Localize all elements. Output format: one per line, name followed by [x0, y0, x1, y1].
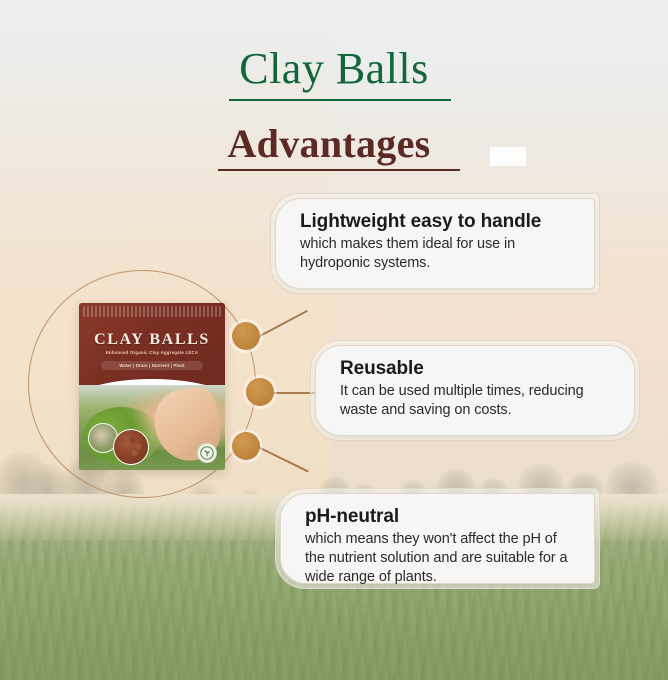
- advantage-card-reusable[interactable]: Reusable It can be used multiple times, …: [310, 340, 640, 441]
- bullet-dot-1[interactable]: [232, 322, 260, 350]
- plant-eco-icon: [197, 443, 217, 463]
- card-content: pH-neutral which means they won't affect…: [280, 493, 595, 584]
- clay-pebbles-inset: [113, 429, 149, 465]
- card-title: Lightweight easy to handle: [300, 211, 579, 233]
- card-body: which makes them ideal for use in hydrop…: [300, 235, 579, 274]
- page-subtitle: Advantages: [0, 123, 668, 165]
- white-block-accent: [490, 147, 526, 166]
- card-body: It can be used multiple times, reducing …: [340, 382, 619, 421]
- title-underline: [229, 99, 451, 101]
- card-title: pH-neutral: [305, 506, 579, 528]
- card-body: which means they won't affect the pH of …: [305, 530, 579, 588]
- bullet-dot-3[interactable]: [232, 432, 260, 460]
- advantage-card-ph-neutral[interactable]: pH-neutral which means they won't affect…: [275, 488, 600, 589]
- page-title: Clay Balls: [0, 46, 668, 92]
- card-content: Lightweight easy to handle which makes t…: [275, 198, 595, 289]
- advantage-card-lightweight[interactable]: Lightweight easy to handle which makes t…: [270, 193, 600, 294]
- card-content: Reusable It can be used multiple times, …: [315, 345, 635, 436]
- package-zipper: [83, 306, 221, 317]
- subtitle-underline: [218, 169, 460, 171]
- package-photo: [79, 385, 225, 470]
- card-title: Reusable: [340, 358, 619, 380]
- package-tagline-primary: Enhanced Organic Clay Aggregate LECA: [79, 350, 225, 355]
- package-brand-name: CLAY BALLS: [79, 331, 225, 349]
- package-tagline-secondary: Water | Drain | Nutrient | Plant: [101, 361, 203, 370]
- product-package-image: CLAY BALLS Enhanced Organic Clay Aggrega…: [79, 303, 225, 470]
- bullet-dot-2[interactable]: [246, 378, 274, 406]
